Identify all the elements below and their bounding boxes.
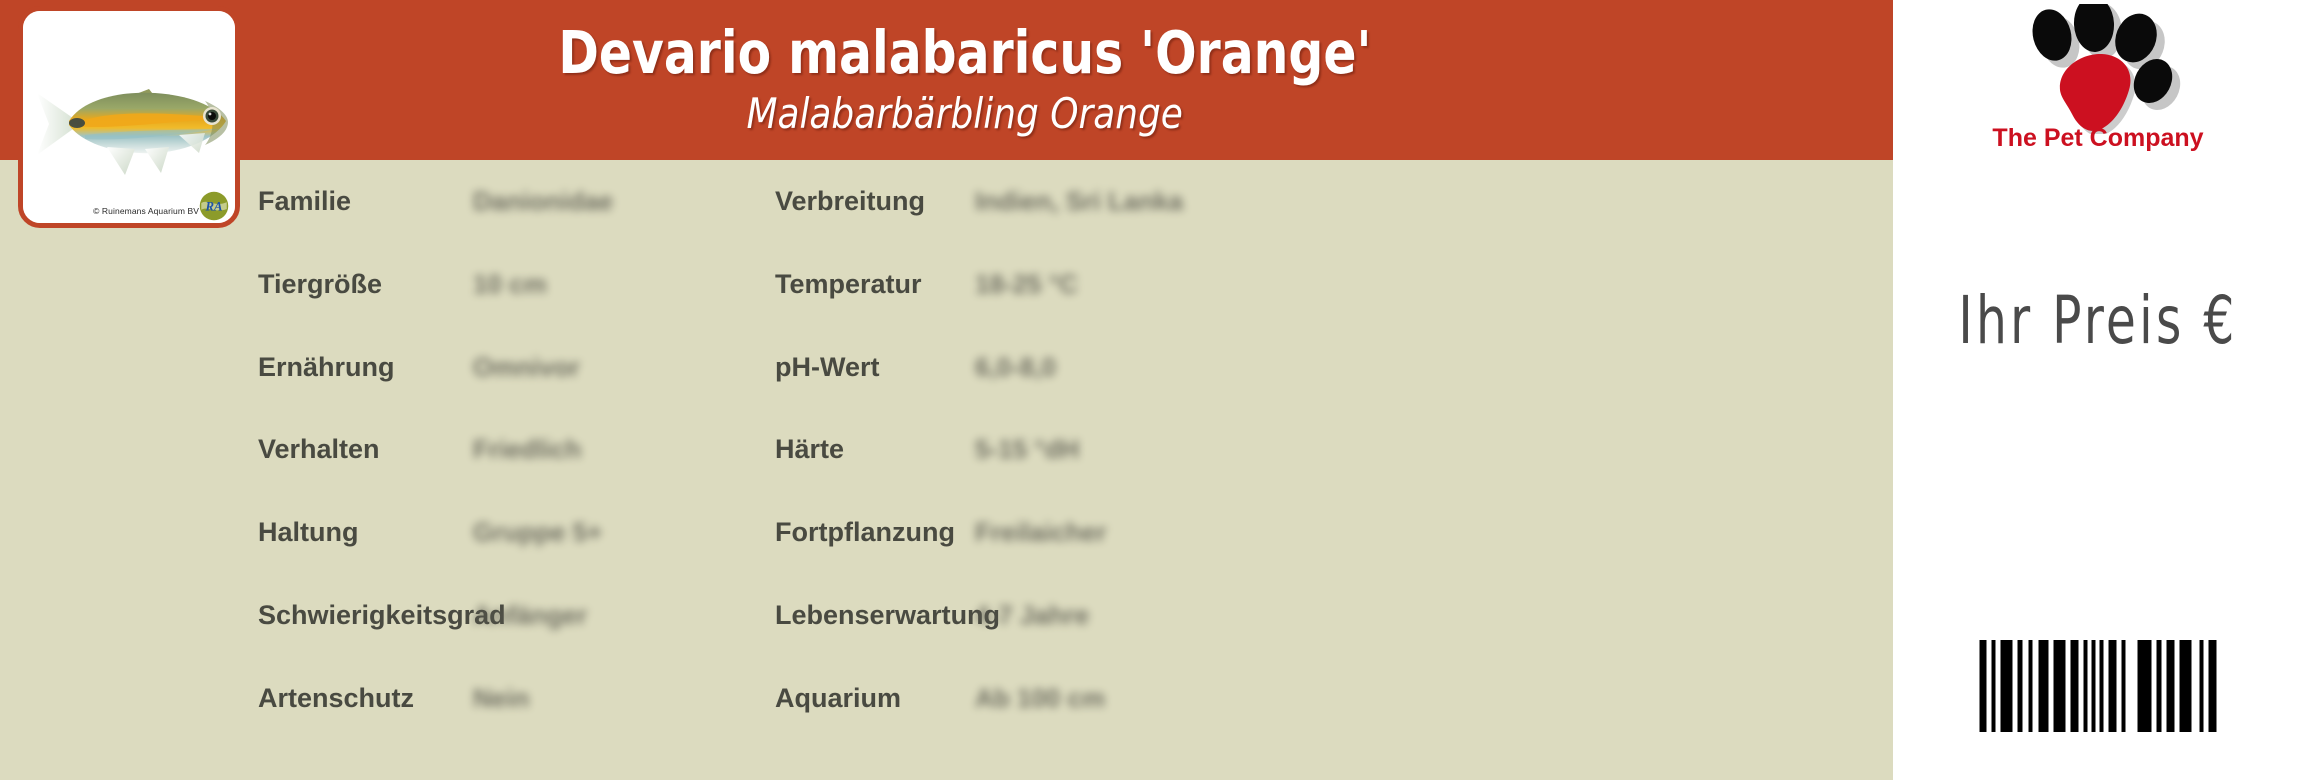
price-panel: The Pet Company Ihr Preis € xyxy=(1893,0,2303,780)
photo-credit-text: © Ruinemans Aquarium BV xyxy=(93,206,199,216)
table-row: Verbreitung Indien, Sri Lanka xyxy=(775,160,1475,243)
barcode-bar xyxy=(2100,640,2104,732)
spec-label: Härte xyxy=(775,434,975,465)
spec-value: Friedlich xyxy=(473,434,581,465)
brand-logo: The Pet Company xyxy=(1893,4,2303,184)
spec-label: Ernährung xyxy=(258,352,473,383)
spec-column-right: Verbreitung Indien, Sri Lanka Temperatur… xyxy=(775,160,1475,740)
spec-value: Indien, Sri Lanka xyxy=(975,186,1183,217)
svg-text:RA: RA xyxy=(204,200,222,214)
table-row: Haltung Gruppe 5+ xyxy=(258,491,818,574)
barcode-bar xyxy=(2092,640,2096,732)
barcode-bar xyxy=(1980,640,1987,732)
spec-value: Freilaicher xyxy=(975,517,1107,548)
table-row: Ernährung Omnivor xyxy=(258,326,818,409)
table-row: Verhalten Friedlich xyxy=(258,409,818,492)
species-scientific-name: Devario malabaricus 'Orange' xyxy=(558,22,1371,84)
barcode-bar xyxy=(2209,640,2217,732)
species-spec-table: Familie Danionidae Tiergröße 10 cm Ernäh… xyxy=(0,160,1893,780)
spec-label: Temperatur xyxy=(775,269,975,300)
table-row: Artenschutz Nein xyxy=(258,657,818,740)
barcode-bar xyxy=(2109,640,2117,732)
species-info-card: Devario malabaricus 'Orange' Malabarbärb… xyxy=(0,0,1893,780)
spec-label: pH-Wert xyxy=(775,352,975,383)
ruinemans-aquarium-logo-icon: RA xyxy=(199,191,229,221)
header-band: Devario malabaricus 'Orange' Malabarbärb… xyxy=(0,0,1893,160)
spec-value: Ab 100 cm xyxy=(975,683,1105,714)
barcode xyxy=(1980,640,2217,732)
spec-label: Artenschutz xyxy=(258,683,473,714)
barcode-bar xyxy=(2200,640,2204,732)
spec-value: Danionidae xyxy=(473,186,613,217)
table-row: Härte 5-15 °dH xyxy=(775,409,1475,492)
fish-illustration xyxy=(29,63,235,183)
barcode-bar xyxy=(2180,640,2192,732)
spec-label: Tiergröße xyxy=(258,269,473,300)
spec-value: Gruppe 5+ xyxy=(473,517,602,548)
table-row: Lebenserwartung 4-7 Jahre xyxy=(775,574,1475,657)
barcode-bar xyxy=(2029,640,2033,732)
spec-label: Fortpflanzung xyxy=(775,517,975,548)
header-titles: Devario malabaricus 'Orange' Malabarbärb… xyxy=(330,0,1600,160)
brand-name-text: The Pet Company xyxy=(1992,124,2203,153)
table-row: pH-Wert 6,0-8,0 xyxy=(775,326,1475,409)
spec-label: Verhalten xyxy=(258,434,473,465)
table-row: Schwierigkeitsgrad Anfänger xyxy=(258,574,818,657)
barcode-bar xyxy=(2039,640,2049,732)
price-label-sheet: Devario malabaricus 'Orange' Malabarbärb… xyxy=(0,0,2303,780)
paw-print-icon xyxy=(1998,4,2198,134)
barcode-bar xyxy=(2084,640,2088,732)
barcode-bar xyxy=(2001,640,2013,732)
spec-value: 6,0-8,0 xyxy=(975,352,1056,383)
barcode-bar xyxy=(2071,640,2079,732)
fish-photo-card: © Ruinemans Aquarium BV RA xyxy=(18,6,240,228)
spec-value: 5-15 °dH xyxy=(975,434,1079,465)
barcode-bar xyxy=(2167,640,2175,732)
spec-label: Familie xyxy=(258,186,473,217)
barcode-bar xyxy=(2122,640,2126,732)
barcode-bar xyxy=(2018,640,2023,732)
barcode-bar xyxy=(2138,640,2152,732)
spec-value: Omnivor xyxy=(473,352,580,383)
spec-value: 18-25 °C xyxy=(975,269,1078,300)
spec-value: 4-7 Jahre xyxy=(975,600,1089,631)
table-row: Fortpflanzung Freilaicher xyxy=(775,491,1475,574)
table-row: Familie Danionidae xyxy=(258,160,818,243)
species-common-name: Malabarbärbling Orange xyxy=(747,90,1183,138)
spec-label: Aquarium xyxy=(775,683,975,714)
table-row: Temperatur 18-25 °C xyxy=(775,243,1475,326)
spec-label: Verbreitung xyxy=(775,186,975,217)
spec-value: Nein xyxy=(473,683,529,714)
spec-label: Lebenserwartung xyxy=(775,600,975,631)
spec-label: Schwierigkeitsgrad xyxy=(258,600,473,631)
price-label-text: Ihr Preis € xyxy=(1930,282,2266,359)
spec-value: Anfänger xyxy=(473,600,587,631)
barcode-bar xyxy=(2157,640,2162,732)
spec-column-left: Familie Danionidae Tiergröße 10 cm Ernäh… xyxy=(258,160,818,740)
spec-value: 10 cm xyxy=(473,269,547,300)
table-row: Aquarium Ab 100 cm xyxy=(775,657,1475,740)
barcode-bar xyxy=(1992,640,1996,732)
barcode-bar xyxy=(2054,640,2066,732)
spec-label: Haltung xyxy=(258,517,473,548)
table-row: Tiergröße 10 cm xyxy=(258,243,818,326)
